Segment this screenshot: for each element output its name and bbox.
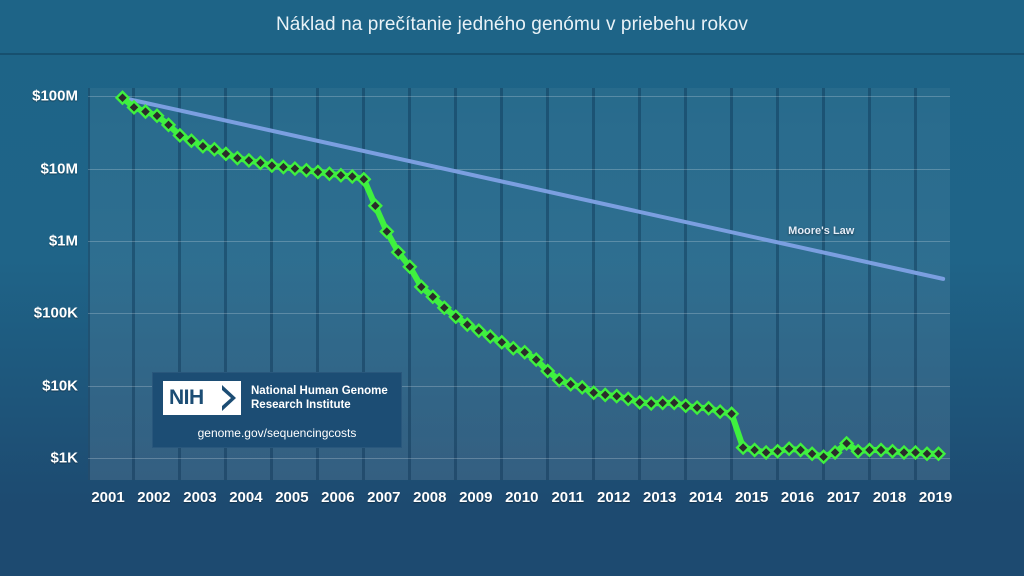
data-point-marker [266,160,278,172]
y-axis-tick-label: $10K [42,377,78,394]
data-point-marker [289,163,301,175]
data-point-marker [335,169,347,181]
x-axis-tick-label: 2019 [919,489,952,506]
chevron-right-icon [220,384,238,412]
x-axis-tick-label: 2011 [551,489,584,506]
x-axis-tick-label: 2013 [643,489,676,506]
data-point-marker [760,447,772,459]
data-point-marker [772,445,784,457]
x-axis-tick-label: 2012 [597,489,630,506]
nih-logo-row: NIH National Human Genome Research Insti… [153,373,401,423]
x-axis-tick-label: 2018 [873,489,906,506]
data-point-marker [933,448,945,460]
page-title: Náklad na prečítanie jedného genómu v pr… [0,14,1024,36]
moores-law-annotation: Moore's Law [788,225,854,237]
nih-institute-line-2: Research Institute [251,398,388,412]
data-point-marker [749,444,761,456]
nih-institute-line-1: National Human Genome [251,384,388,398]
y-axis-tick-label: $100K [34,305,78,322]
x-axis-tick-label: 2014 [689,489,722,506]
y-axis-tick-label: $1M [49,233,78,250]
nih-logo-block: NIH National Human Genome Research Insti… [152,372,402,448]
x-axis-tick-label: 2002 [137,489,170,506]
nih-institute-name: National Human Genome Research Institute [251,384,388,412]
data-point-marker [680,400,692,412]
x-axis-tick-label: 2010 [505,489,538,506]
x-axis-tick-label: 2008 [413,489,446,506]
x-axis-tick-label: 2004 [229,489,262,506]
moores-law-line [122,98,943,279]
data-point-marker [323,168,335,180]
data-point-marker [346,171,358,183]
y-axis-tick-label: $10M [40,160,78,177]
x-axis-tick-label: 2007 [367,489,400,506]
x-axis-tick-label: 2017 [827,489,860,506]
x-axis-tick-label: 2006 [321,489,354,506]
x-axis-tick-label: 2015 [735,489,768,506]
data-point-marker [277,161,289,173]
data-point-marker [312,166,324,178]
x-axis-tick-label: 2009 [459,489,492,506]
data-point-marker [875,444,887,456]
chart-page: Náklad na prečítanie jedného genómu v pr… [0,0,1024,576]
data-point-marker [599,389,611,401]
x-axis-tick-label: 2001 [91,489,124,506]
data-point-marker [887,445,899,457]
data-point-marker [910,447,922,459]
data-point-marker [668,397,680,409]
y-axis-tick-label: $100M [32,88,78,105]
data-point-marker [645,398,657,410]
x-axis-tick-label: 2005 [275,489,308,506]
data-point-marker [243,154,255,166]
x-axis-tick-label: 2003 [183,489,216,506]
nih-logo-mark: NIH [163,381,241,415]
data-point-marker [611,390,623,402]
header-bar: Náklad na prečítanie jedného genómu v pr… [0,0,1024,55]
y-axis-tick-label: $1K [50,450,78,467]
data-point-marker [783,443,795,455]
nih-source-url: genome.gov/sequencingcosts [153,423,401,447]
x-axis-tick-label: 2016 [781,489,814,506]
data-point-marker [300,164,312,176]
data-point-marker [691,402,703,414]
data-point-marker [254,157,266,169]
nih-logo-text: NIH [169,386,204,410]
